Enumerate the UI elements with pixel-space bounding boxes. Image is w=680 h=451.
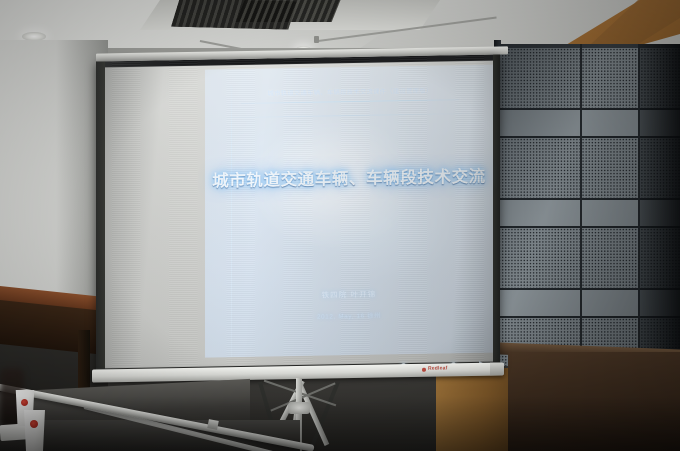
podium-leg	[78, 330, 90, 396]
metal-pole-joint	[207, 419, 219, 430]
screen-border-left	[96, 61, 105, 373]
projection-screen: 城市轨道交通车辆、车辆段技术交流课件（建设管理版） 城市轨道交通车辆、车辆段技术…	[96, 54, 500, 373]
slide-header-rule-secondary	[227, 113, 473, 118]
slide-title: 城市轨道交通车辆、车辆段技术交流	[205, 163, 493, 192]
screen-border-right	[493, 54, 500, 366]
conference-room-photo: 城市轨道交通车辆、车辆段技术交流课件（建设管理版） 城市轨道交通车辆、车辆段技术…	[0, 0, 680, 451]
cup-logo-icon	[21, 399, 28, 406]
presentation-slide: 城市轨道交通车辆、车辆段技术交流课件（建设管理版） 城市轨道交通车辆、车辆段技术…	[205, 65, 493, 358]
screen-brand-label: Redleaf	[428, 365, 447, 371]
screen-hanger-hook	[314, 36, 319, 43]
paper-cup	[22, 410, 47, 451]
slide-header: 城市轨道交通车辆、车辆段技术交流课件（建设管理版）	[241, 85, 459, 98]
screen-weight-bar-cap	[490, 362, 504, 375]
wooden-cabinet	[508, 352, 680, 451]
ceiling-vent-secondary-icon	[236, 0, 341, 22]
tripod-hub	[288, 402, 310, 414]
slide-author: 铁四院 叶开锦	[205, 287, 493, 303]
brand-mark-icon	[422, 367, 426, 371]
cup-logo-icon	[30, 420, 38, 428]
slide-header-rule	[241, 99, 459, 104]
slide-date: 2012, May, 16 徐州	[205, 309, 493, 323]
